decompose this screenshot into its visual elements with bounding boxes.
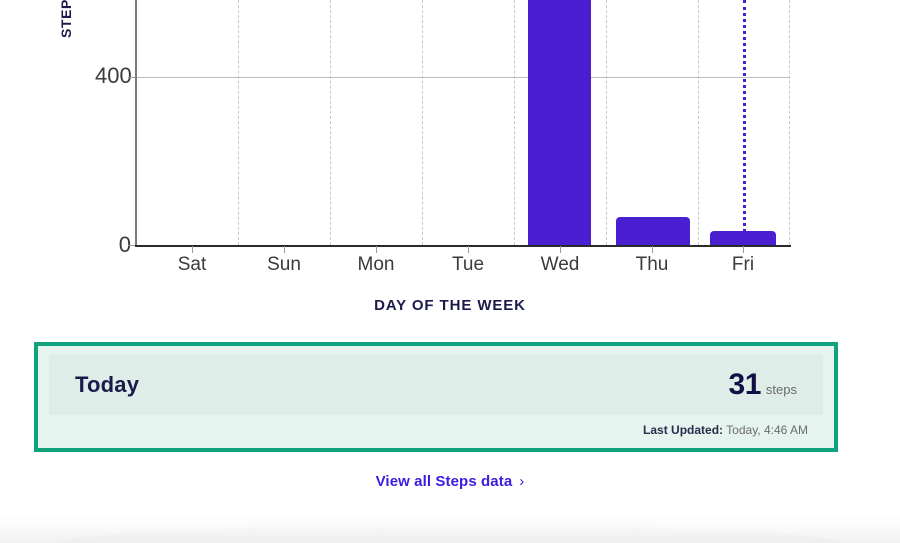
x-tick-label-thu: Thu: [636, 254, 669, 276]
x-tick-mark: [284, 246, 285, 253]
last-updated-value: Today, 4:46 AM: [726, 423, 808, 437]
x-axis-line: [135, 245, 791, 247]
bottom-fade-shadow: [0, 511, 900, 543]
gridline-vertical: [330, 0, 331, 245]
today-summary-card[interactable]: Today 31 steps Last Updated: Today, 4:46…: [34, 342, 838, 452]
view-all-steps-data-link[interactable]: View all Steps data›: [0, 473, 900, 490]
y-axis-line: [135, 0, 137, 246]
gridline-vertical: [238, 0, 239, 245]
x-tick-mark: [468, 246, 469, 253]
x-tick-label-sun: Sun: [267, 254, 301, 276]
bar-wed[interactable]: [528, 0, 591, 245]
x-tick-label-fri: Fri: [732, 254, 754, 276]
gridline-vertical: [422, 0, 423, 245]
y-tick-label-400: 400: [95, 63, 131, 89]
today-card-metric: 31 steps: [729, 368, 797, 402]
chevron-right-icon: ›: [519, 473, 524, 490]
view-all-label: View all Steps data: [376, 473, 513, 490]
x-tick-mark: [560, 246, 561, 253]
x-axis-title: DAY OF THE WEEK: [0, 297, 900, 314]
x-tick-mark: [743, 246, 744, 253]
plot-area: [135, 0, 790, 245]
y-axis-title: STEPS: [58, 0, 74, 38]
gridline-vertical: [514, 0, 515, 245]
x-tick-mark: [192, 246, 193, 253]
today-card-header: Today 31 steps: [49, 355, 823, 415]
gridline-vertical: [606, 0, 607, 245]
y-tick-mark-400: [128, 77, 135, 78]
today-card-value: 31: [729, 368, 761, 402]
x-tick-label-tue: Tue: [452, 254, 484, 276]
last-updated-label: Last Updated:: [643, 423, 723, 437]
last-updated: Last Updated: Today, 4:46 AM: [643, 423, 808, 437]
today-card-unit: steps: [766, 382, 797, 397]
x-tick-label-mon: Mon: [358, 254, 395, 276]
x-tick-label-wed: Wed: [541, 254, 580, 276]
x-tick-mark: [652, 246, 653, 253]
gridline-vertical: [789, 0, 790, 245]
x-tick-mark: [376, 246, 377, 253]
steps-bar-chart: STEPS 400 0 Sat Sun Mon Tue Wed Thu Fri …: [0, 0, 900, 285]
x-tick-label-sat: Sat: [178, 254, 207, 276]
today-card-title: Today: [75, 372, 139, 398]
gridline-horizontal-400: [135, 77, 790, 78]
bar-thu[interactable]: [616, 217, 690, 245]
y-tick-mark-0: [128, 245, 135, 246]
gridline-vertical: [698, 0, 699, 245]
today-marker-line: [743, 0, 746, 245]
